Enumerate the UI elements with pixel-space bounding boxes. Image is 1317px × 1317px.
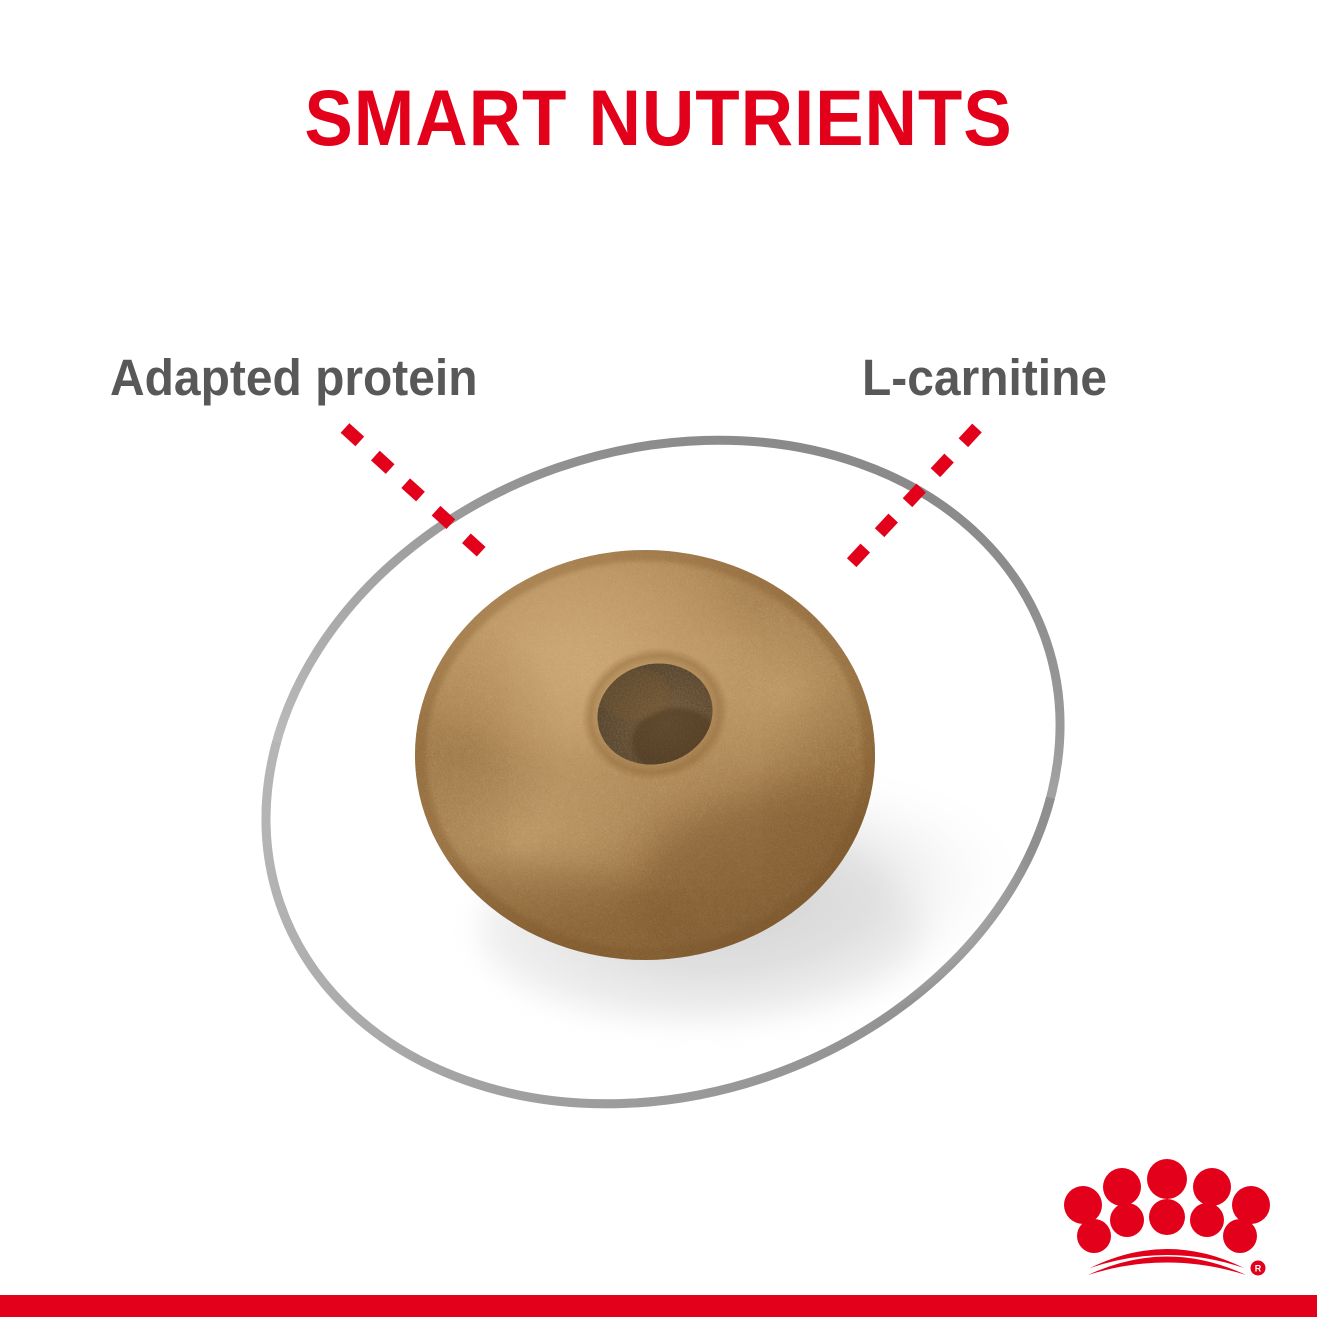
registered-mark: R [1251, 1261, 1266, 1276]
leader-line-l-carnitine [843, 428, 977, 572]
callout-label-adapted-protein: Adapted protein [110, 352, 478, 403]
kibble-illustration [0, 0, 1317, 1317]
kibble-shadow [438, 726, 1051, 1084]
svg-text:R: R [1255, 1264, 1262, 1274]
crown-icon [1064, 1159, 1270, 1253]
royal-canin-logo: R [1062, 1158, 1272, 1278]
kibble [370, 525, 960, 1000]
orbit-ellipse [175, 336, 1151, 1209]
kibble-center-hole [567, 632, 743, 796]
callout-label-l-carnitine: L-carnitine [862, 352, 1107, 403]
leader-line-adapted-protein [345, 428, 487, 557]
footer-red-bar [0, 1295, 1317, 1317]
smart-nutrients-panel: SMART NUTRIENTS [0, 0, 1317, 1317]
leader-lines [345, 428, 977, 572]
page-title: SMART NUTRIENTS [53, 78, 1265, 157]
